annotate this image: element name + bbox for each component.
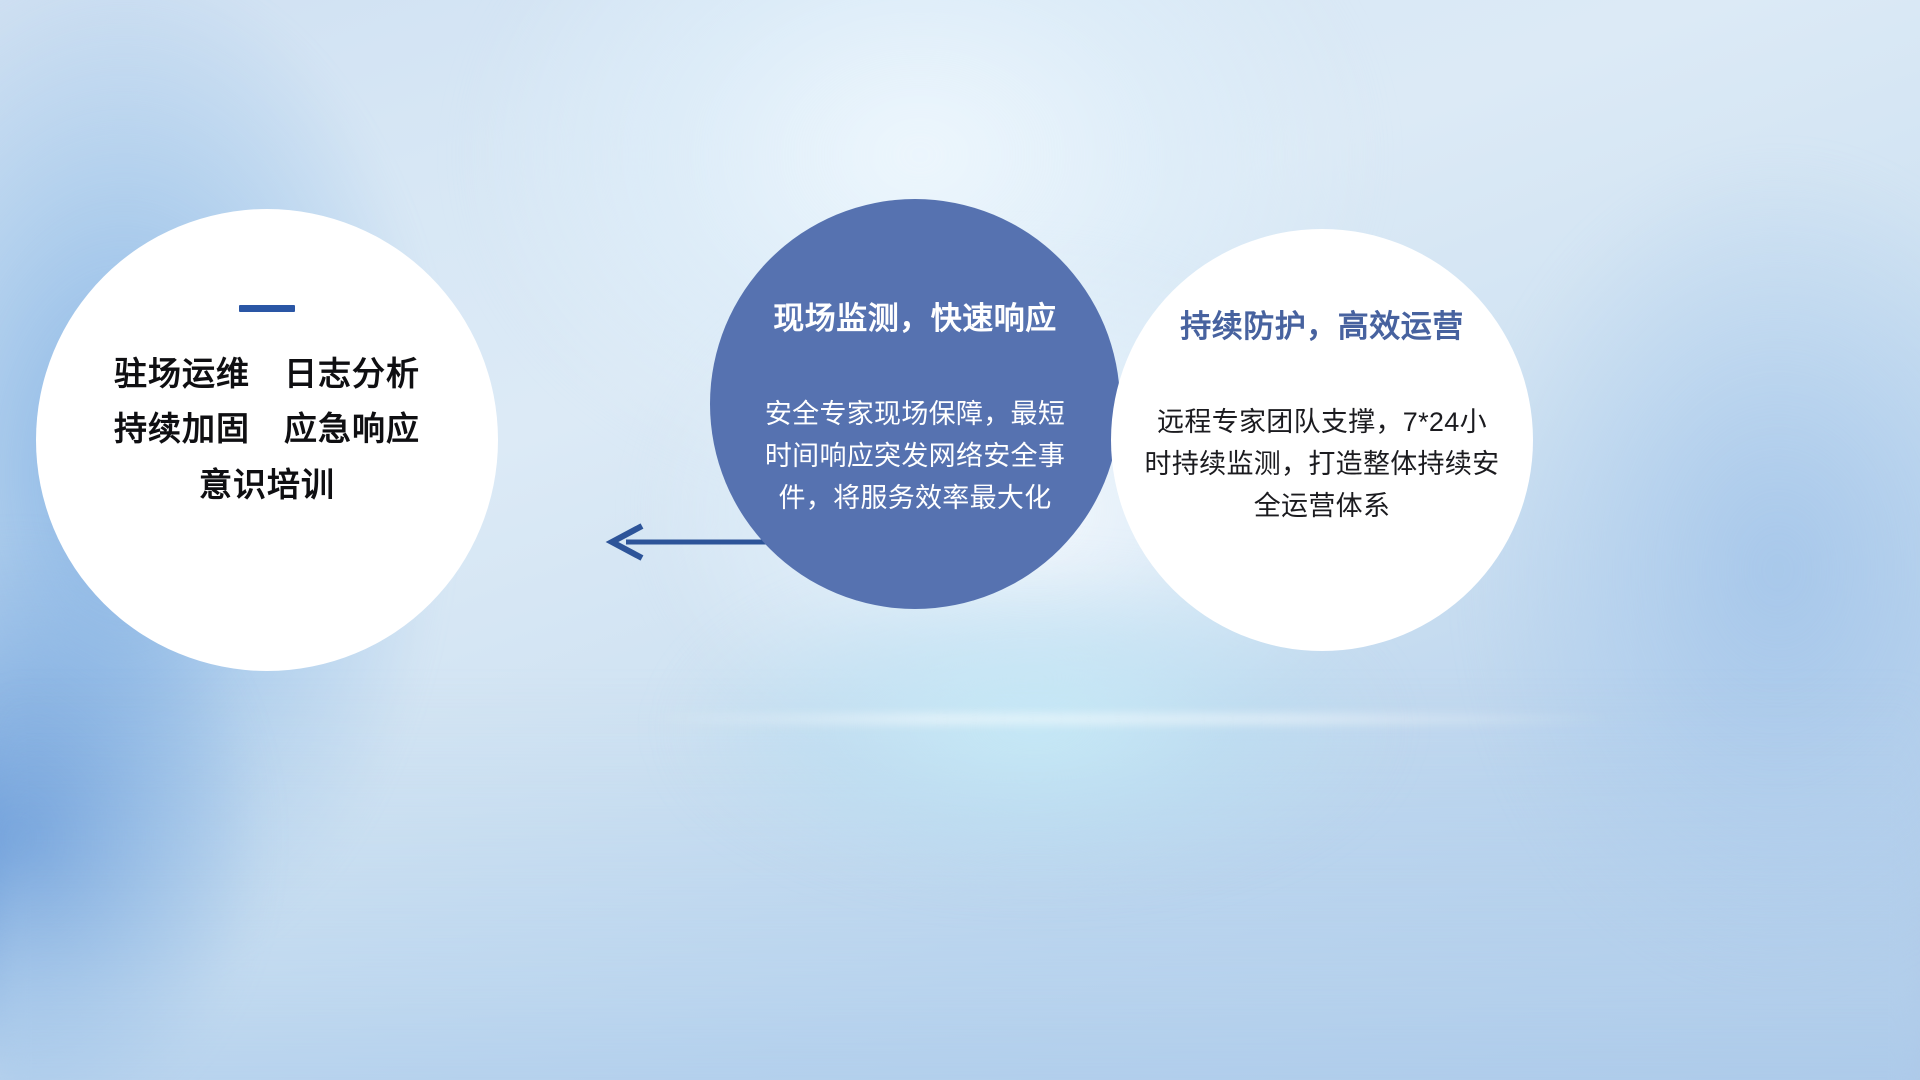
slide-canvas: 驻场运维 日志分析 持续加固 应急响应 意识培训 现场监测，快速响应 安全专家现… <box>0 0 1920 1080</box>
capability-row: 意识培训 <box>199 464 335 505</box>
feature-title: 持续防护，高效运营 <box>1180 301 1464 346</box>
capability-item: 意识培训 <box>199 464 335 505</box>
background-light-streak <box>640 714 1620 724</box>
capability-row: 持续加固 应急响应 <box>114 408 420 449</box>
capability-item: 应急响应 <box>284 408 420 449</box>
capability-list: 驻场运维 日志分析 持续加固 应急响应 意识培训 <box>114 353 420 505</box>
capability-circle-left[interactable]: 驻场运维 日志分析 持续加固 应急响应 意识培训 <box>36 209 498 671</box>
capability-row: 驻场运维 日志分析 <box>114 353 420 394</box>
capability-item: 持续加固 <box>114 408 250 449</box>
feature-title: 现场监测，快速响应 <box>773 293 1057 338</box>
capability-item: 驻场运维 <box>114 353 250 394</box>
feature-description: 远程专家团队支撑，7*24小时持续监测，打造整体持续安全运营体系 <box>1144 402 1500 528</box>
feature-circle-right[interactable]: 持续防护，高效运营 远程专家团队支撑，7*24小时持续监测，打造整体持续安全运营… <box>1111 229 1533 651</box>
capability-item: 日志分析 <box>284 353 420 394</box>
dash-decoration <box>239 305 295 312</box>
feature-circle-middle[interactable]: 现场监测，快速响应 安全专家现场保障，最短时间响应突发网络安全事件，将服务效率最… <box>710 199 1120 609</box>
feature-description: 安全专家现场保障，最短时间响应突发网络安全事件，将服务效率最大化 <box>756 394 1074 520</box>
